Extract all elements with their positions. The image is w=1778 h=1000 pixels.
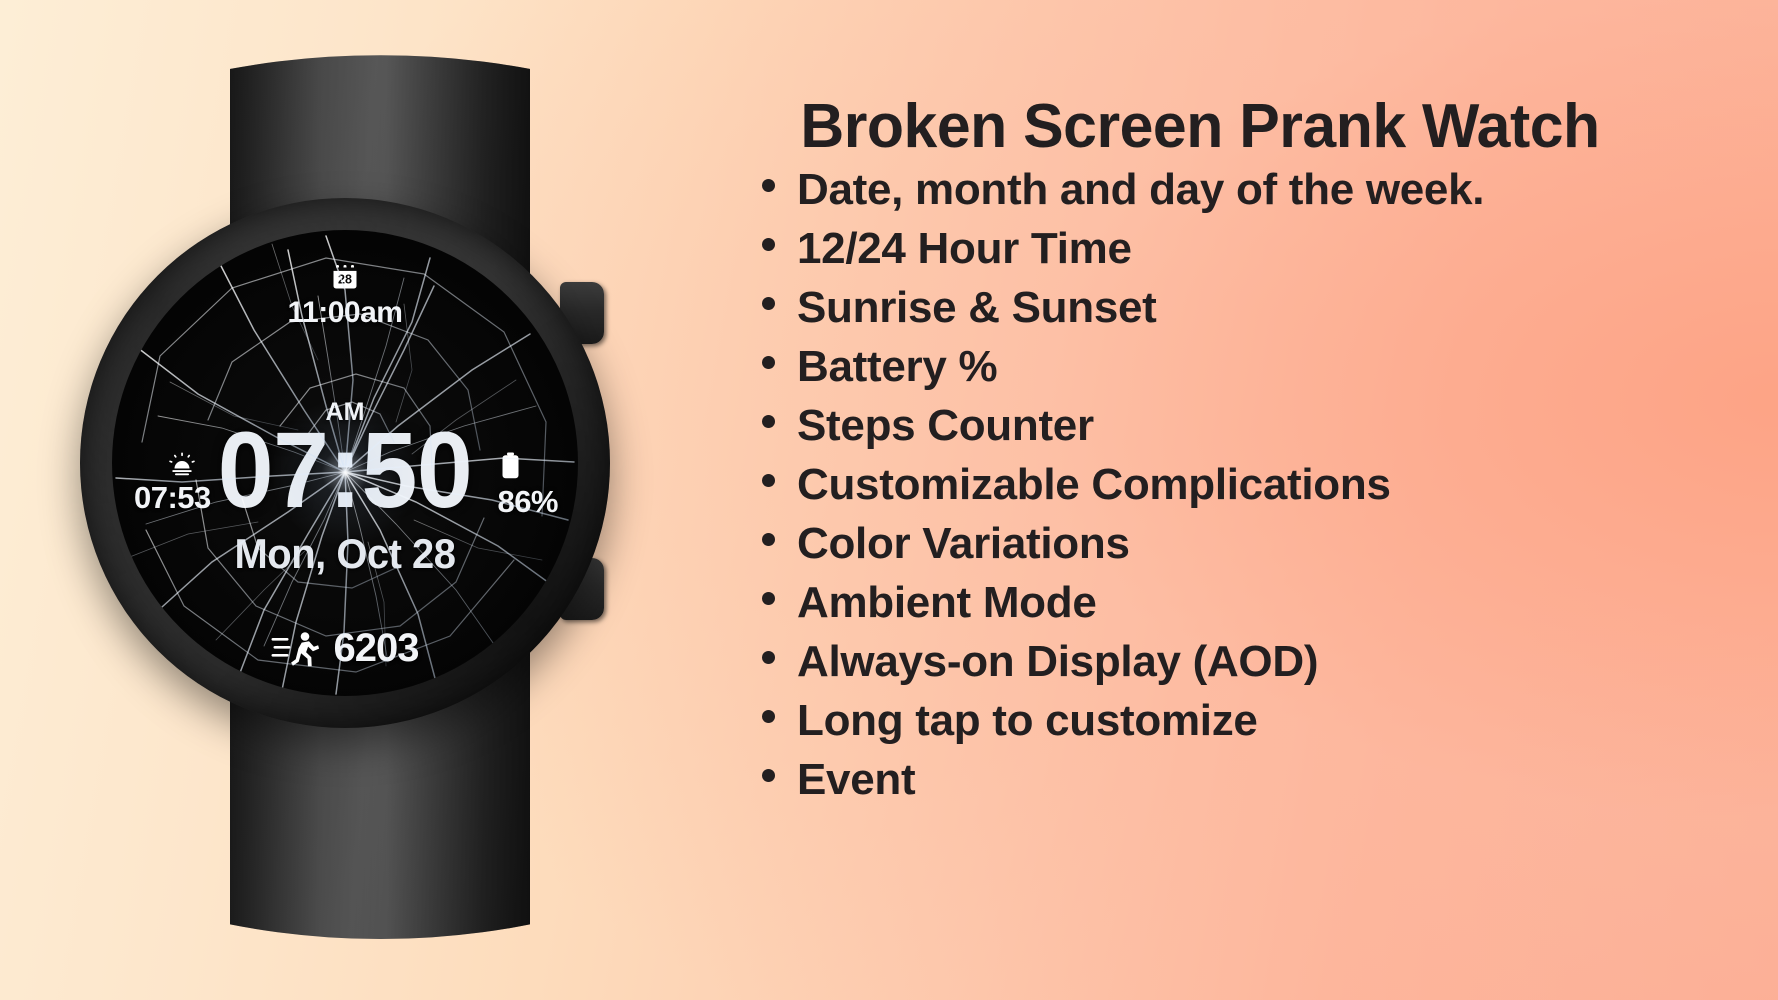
list-item: Ambient Mode (762, 573, 1484, 632)
feature-label: Ambient Mode (797, 573, 1097, 632)
list-item: Sunrise & Sunset (762, 278, 1484, 337)
running-person-icon (272, 631, 320, 667)
feature-label: Long tap to customize (797, 691, 1258, 750)
bullet-icon (762, 356, 775, 369)
steps-count: 6203 (334, 626, 419, 671)
bullet-icon (762, 179, 775, 192)
feature-label: Date, month and day of the week. (797, 160, 1484, 219)
bullet-icon (762, 415, 775, 428)
feature-list: Date, month and day of the week. 12/24 H… (762, 160, 1484, 809)
bullet-icon (762, 474, 775, 487)
list-item: Color Variations (762, 514, 1484, 573)
feature-label: Battery % (797, 337, 997, 396)
bullet-icon (762, 769, 775, 782)
feature-label: Customizable Complications (797, 455, 1391, 514)
list-item: 12/24 Hour Time (762, 219, 1484, 278)
watch-case: 28 11:00am AM 07:50 Mon, Oct 28 (80, 198, 610, 728)
feature-label: 12/24 Hour Time (797, 219, 1132, 278)
feature-label: Sunrise & Sunset (797, 278, 1157, 337)
poster-canvas: 28 11:00am AM 07:50 Mon, Oct 28 (0, 0, 1778, 1000)
watch-screen[interactable]: 28 11:00am AM 07:50 Mon, Oct 28 (112, 230, 578, 696)
steps-complication: 6203 (272, 626, 419, 671)
battery-icon (501, 452, 520, 479)
main-time-display: 07:50 (218, 416, 473, 524)
list-item: Event (762, 750, 1484, 809)
list-item: Always-on Display (AOD) (762, 632, 1484, 691)
battery-percent: 86% (497, 484, 558, 520)
sunrise-icon (168, 452, 196, 476)
feature-label: Steps Counter (797, 396, 1094, 455)
top-time-complication: 11:00am (288, 296, 403, 330)
page-title: Broken Screen Prank Watch (710, 94, 1690, 159)
list-item: Battery % (762, 337, 1484, 396)
feature-label: Event (797, 750, 915, 809)
feature-label: Always-on Display (AOD) (797, 632, 1318, 691)
bullet-icon (762, 297, 775, 310)
bullet-icon (762, 238, 775, 251)
bullet-icon (762, 710, 775, 723)
sunrise-time: 07:53 (134, 480, 211, 516)
feature-content-panel: Broken Screen Prank Watch Date, month an… (700, 0, 1740, 1000)
list-item: Date, month and day of the week. (762, 160, 1484, 219)
bullet-icon (762, 592, 775, 605)
smartwatch-graphic: 28 11:00am AM 07:50 Mon, Oct 28 (60, 10, 680, 990)
list-item: Customizable Complications (762, 455, 1484, 514)
bullet-icon (762, 533, 775, 546)
date-display: Mon, Oct 28 (235, 530, 456, 578)
calendar-day-number: 28 (338, 273, 352, 287)
list-item: Long tap to customize (762, 691, 1484, 750)
calendar-icon: 28 (332, 264, 358, 290)
list-item: Steps Counter (762, 396, 1484, 455)
bullet-icon (762, 651, 775, 664)
feature-label: Color Variations (797, 514, 1130, 573)
